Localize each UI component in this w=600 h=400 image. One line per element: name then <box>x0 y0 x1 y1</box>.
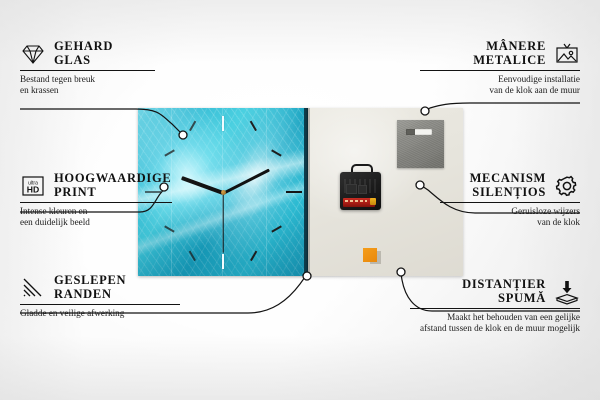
svg-text:HD: HD <box>27 184 39 194</box>
callout-title: MÂNERE METALICE <box>473 40 546 67</box>
callout-subtitle: Intense kleuren en een duidelijk beeld <box>20 206 195 228</box>
callout-subtitle: Gladde en veilige afwerking <box>20 308 200 319</box>
infographic-canvas: GEHARD GLAS Bestand tegen breuk en krass… <box>0 0 600 400</box>
mechanism-housing <box>340 172 381 210</box>
callout-mecanism-silentios[interactable]: MECANISM SILENȚIOS Geruisloze wijzers va… <box>440 172 580 228</box>
callout-header: GESLEPEN RANDEN <box>20 274 200 301</box>
picture-hanger-icon <box>554 41 580 67</box>
callout-distantier-spuma[interactable]: DISTANȚIER SPUMĂ Maakt het behouden van … <box>410 278 580 334</box>
callout-title: MECANISM SILENȚIOS <box>470 172 546 199</box>
callout-title: GESLEPEN RANDEN <box>54 274 126 301</box>
callout-header: DISTANȚIER SPUMĂ <box>410 278 580 305</box>
dial-tick-3 <box>286 191 302 193</box>
callout-subtitle: Geruisloze wijzers van de klok <box>440 206 580 228</box>
clock-hand-second <box>222 193 223 253</box>
clock-center-pivot <box>221 190 226 195</box>
callout-gehard-glas[interactable]: GEHARD GLAS Bestand tegen breuk en krass… <box>20 40 180 96</box>
dial-tick-6 <box>222 254 224 269</box>
callout-hoogwaardige-print[interactable]: ultra HD HOOGWAARDIGE PRINT Intense kleu… <box>20 172 195 228</box>
callout-subtitle: Maakt het behouden van een gelijke afsta… <box>410 312 580 334</box>
callout-header: MÂNERE METALICE <box>420 40 580 67</box>
callout-header: ultra HD HOOGWAARDIGE PRINT <box>20 172 195 199</box>
callout-title: DISTANȚIER SPUMĂ <box>462 278 546 305</box>
foam-spacer <box>363 248 377 262</box>
callout-rule <box>420 70 580 71</box>
gear-icon <box>554 173 580 199</box>
battery-label <box>345 200 367 202</box>
hanger-texture <box>397 120 444 168</box>
clock-mechanism <box>340 170 381 210</box>
callout-rule <box>440 202 580 203</box>
callout-title: GEHARD GLAS <box>54 40 113 67</box>
beveled-edges-icon <box>20 275 46 301</box>
callout-manere-metalice[interactable]: MÂNERE METALICE Eenvoudige installatie v… <box>420 40 580 96</box>
callout-title: HOOGWAARDIGE PRINT <box>54 172 171 199</box>
dial-tick-12 <box>222 116 224 131</box>
callout-rule <box>20 202 172 203</box>
callout-geslepen-randen[interactable]: GESLEPEN RANDEN Gladde en veilige afwerk… <box>20 274 200 319</box>
callout-subtitle: Eenvoudige installatie van de klok aan d… <box>420 74 580 96</box>
diamond-icon <box>20 41 46 67</box>
metal-hanger-plate <box>397 120 444 168</box>
battery <box>343 198 375 207</box>
callout-rule <box>410 308 580 309</box>
callout-rule <box>20 70 155 71</box>
ultra-hd-icon: ultra HD <box>20 173 46 199</box>
glass-panel-line-3 <box>266 108 267 276</box>
mechanism-port-a <box>346 184 357 194</box>
callout-header: MECANISM SILENȚIOS <box>440 172 580 199</box>
callout-subtitle: Bestand tegen breuk en krassen <box>20 74 180 96</box>
foam-spacer-icon <box>554 279 580 305</box>
battery-positive-tip <box>370 198 376 205</box>
mechanism-port-b <box>358 185 367 194</box>
hanger-keyhole-slot <box>406 129 432 135</box>
back-panel-left-edge <box>308 108 310 276</box>
callout-header: GEHARD GLAS <box>20 40 180 67</box>
callout-rule <box>20 304 180 305</box>
